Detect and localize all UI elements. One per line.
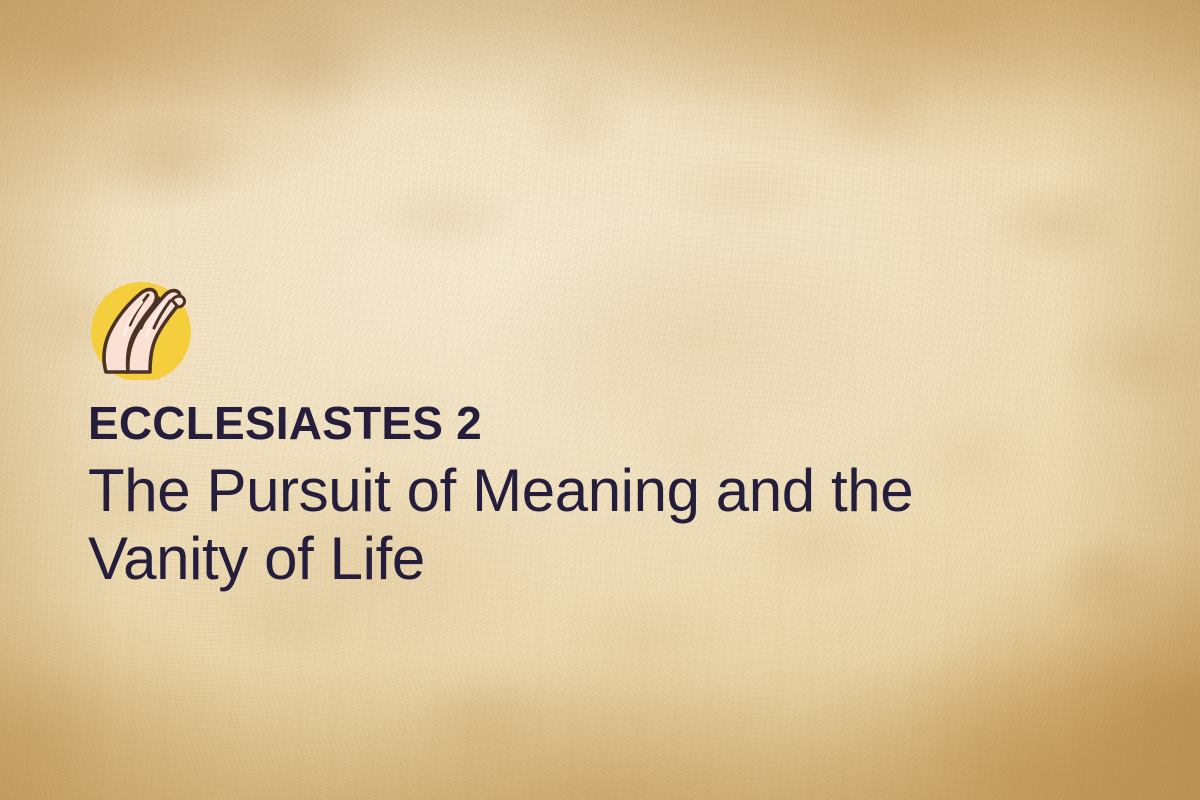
page-title-line-2: Vanity of Life bbox=[88, 525, 425, 592]
praying-hands-icon bbox=[86, 262, 204, 380]
heading-block: ECCLESIASTES 2 The Pursuit of Meaning an… bbox=[88, 400, 1088, 594]
page-title-line-1: The Pursuit of Meaning and the bbox=[88, 457, 913, 524]
scripture-title-card: ECCLESIASTES 2 The Pursuit of Meaning an… bbox=[0, 0, 1200, 800]
page-title: The Pursuit of Meaning and the Vanity of… bbox=[88, 457, 1048, 594]
chapter-label: ECCLESIASTES 2 bbox=[88, 400, 1088, 447]
title-content-block: ECCLESIASTES 2 The Pursuit of Meaning an… bbox=[88, 262, 1088, 594]
